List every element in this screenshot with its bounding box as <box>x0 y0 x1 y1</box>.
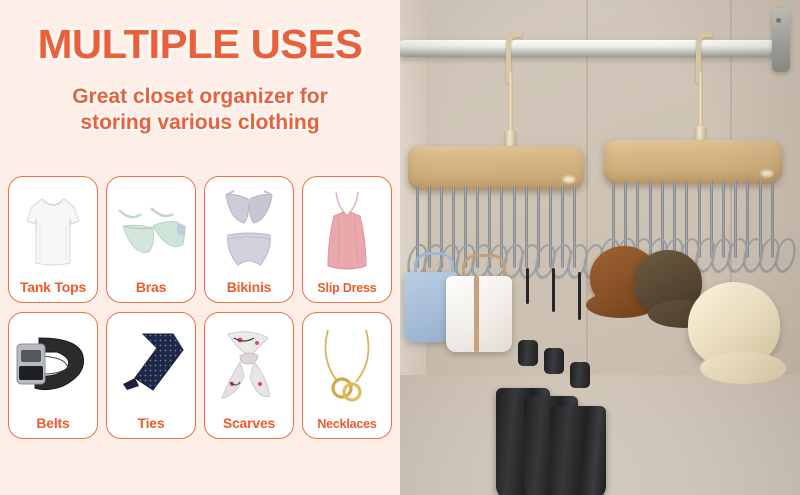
wooden-hanger-bar <box>604 140 782 184</box>
category-label: Ties <box>107 415 195 438</box>
category-label: Necklaces <box>303 417 391 438</box>
category-card-belts[interactable]: Belts <box>8 312 98 439</box>
category-card-ties[interactable]: Ties <box>106 312 196 439</box>
umbrella-handle <box>570 362 590 388</box>
handbag-strap <box>474 276 479 352</box>
necklace-icon <box>303 313 391 417</box>
product-photo <box>400 0 800 495</box>
tank-top-icon <box>9 177 97 279</box>
hanger-stem <box>698 72 703 134</box>
page-title: MULTIPLE USES <box>0 22 400 66</box>
category-card-necklaces[interactable]: Necklaces <box>302 312 392 439</box>
category-label: Belts <box>9 415 97 438</box>
bikini-icon <box>205 177 293 279</box>
umbrella-strap <box>552 268 555 312</box>
tie-icon <box>107 313 195 415</box>
belt-icon <box>9 313 97 415</box>
scarf-icon <box>205 313 293 415</box>
wooden-hanger-bar <box>408 146 584 190</box>
page-subtitle: Great closet organizer for storing vario… <box>0 84 400 136</box>
category-label: Scarves <box>205 415 293 438</box>
category-card-grid: Tank Tops Bras <box>8 176 392 439</box>
hanger-stem <box>508 72 513 138</box>
black-umbrella <box>550 406 606 495</box>
umbrella-handle <box>518 340 538 366</box>
subtitle-line-1: Great closet organizer for <box>0 84 400 110</box>
category-card-tank-tops[interactable]: Tank Tops <box>8 176 98 303</box>
infographic-page: MULTIPLE USES Great closet organizer for… <box>0 0 800 495</box>
umbrella-strap <box>526 268 529 304</box>
left-info-panel: MULTIPLE USES Great closet organizer for… <box>0 0 400 495</box>
cream-cap-brim <box>700 352 786 384</box>
umbrella-handle <box>544 348 564 374</box>
white-handbag <box>446 276 512 352</box>
category-label: Slip Dress <box>303 281 391 302</box>
category-label: Bras <box>107 279 195 302</box>
category-card-scarves[interactable]: Scarves <box>204 312 294 439</box>
subtitle-line-2: storing various clothing <box>0 110 400 136</box>
slip-dress-icon <box>303 177 391 281</box>
category-label: Bikinis <box>205 279 293 302</box>
category-label: Tank Tops <box>9 279 97 302</box>
rail-wall-bracket <box>772 8 790 72</box>
bra-icon <box>107 177 195 279</box>
category-card-bikinis[interactable]: Bikinis <box>204 176 294 303</box>
closet-rail <box>400 40 782 57</box>
category-card-slip-dress[interactable]: Slip Dress <box>302 176 392 303</box>
umbrella-strap <box>578 272 581 320</box>
category-card-bras[interactable]: Bras <box>106 176 196 303</box>
